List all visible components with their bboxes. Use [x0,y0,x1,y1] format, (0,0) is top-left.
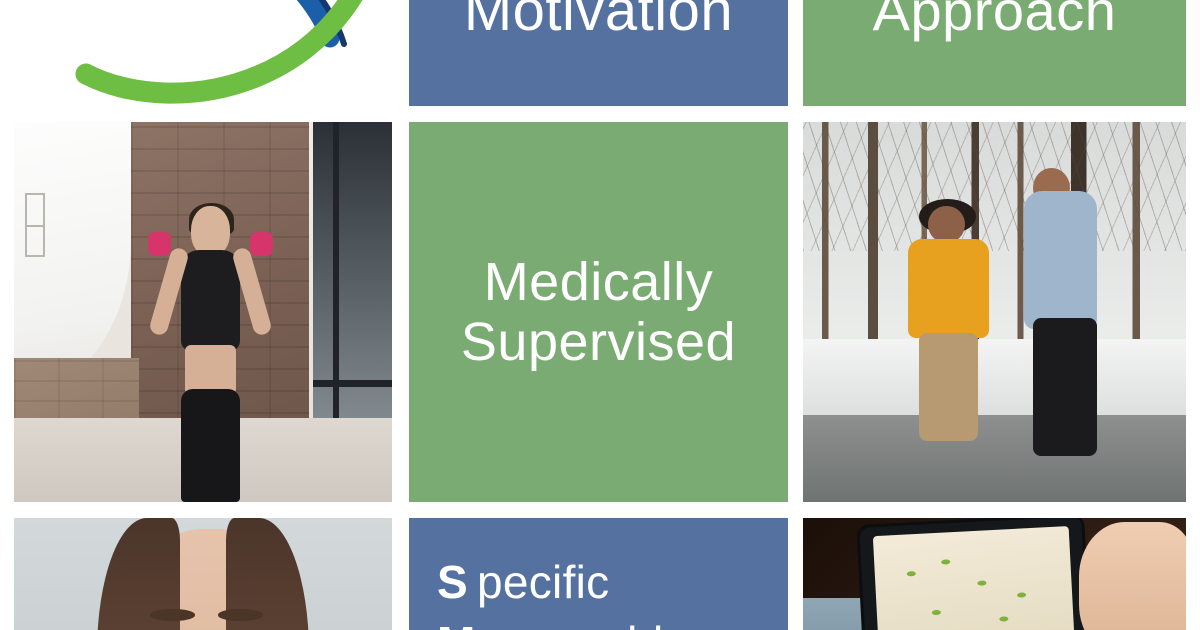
gym-person-head [191,206,229,256]
smart-item-measurable-initial: M [437,617,476,630]
portrait-eyebrow-right [218,609,263,620]
gym-person-sports-bra [181,250,240,351]
hand-holding-phone [1079,522,1186,630]
walk-snowbank [803,339,1186,423]
herb-fleck [1017,592,1026,597]
walk-photo-art [803,122,1186,502]
smart-item-specific-rest: pecific [477,556,610,608]
portrait-photo-art [14,518,392,630]
motivation-tile: Motivation [409,0,788,106]
walker1-tan-pants [919,333,978,441]
walker1-orange-puffer [908,239,989,338]
medically-supervised-label: Medically Supervised [461,252,736,373]
gym-window-bars [25,193,45,257]
herb-fleck [999,616,1008,621]
winter-walk-photo [803,122,1186,502]
gym-person-midriff [185,345,236,395]
smart-item-specific-initial: S [437,556,468,608]
dumbbell-right [250,232,273,256]
food-logging-photo [803,518,1186,630]
herb-fleck [907,571,916,576]
medically-supervised-tile: Medically Supervised [409,122,788,502]
smart-goals-tile: Specific Measurable [409,518,788,630]
smartphone [860,518,1091,630]
gym-photo-art [14,122,392,502]
walker2-black-pants [1033,318,1097,457]
food-photo-art [803,518,1186,630]
smart-item-measurable-rest: easurable [485,617,690,630]
portrait-photo [14,518,392,630]
walk-branches [803,122,1186,251]
brand-logo [0,0,392,108]
herb-fleck [932,610,941,615]
logo-swoosh-icon [0,0,392,108]
smart-item-measurable: Measurable [437,613,788,630]
walker1-head [928,206,965,244]
herb-fleck [941,559,950,564]
dumbbell-left [148,232,171,256]
gym-person-leggings [181,389,240,502]
approach-tile: Approach [803,0,1186,106]
gym-window-left [14,122,131,396]
infographic-canvas: Motivation Approach [0,0,1200,630]
motivation-label: Motivation [464,0,733,43]
herb-fleck [978,581,987,586]
walk-path [803,415,1186,502]
approach-label: Approach [873,0,1117,42]
walker2-blue-hoodie [1024,191,1096,330]
smartphone-screen [873,526,1077,630]
smart-item-specific: Specific [437,552,788,613]
portrait-eyebrow-left [150,609,195,620]
gym-dumbbells-photo [14,122,392,502]
walker-in-orange-jacket [903,206,995,442]
gym-person [158,206,264,502]
walker-in-blue-hoodie [1010,168,1113,457]
